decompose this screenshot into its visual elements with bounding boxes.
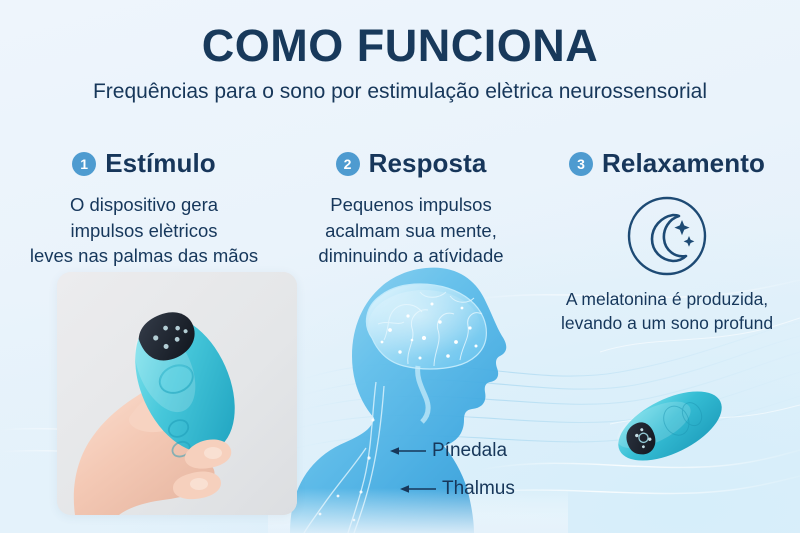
annotation-pineal-label: Pínedala [432, 440, 507, 462]
step-column-1: 1 Estímulo O dispositivo gera impulsos e… [0, 148, 288, 269]
step-number-badge-2: 2 [336, 152, 360, 176]
leader-arrow-left-icon [390, 445, 426, 457]
step-2-title: Resposta [369, 148, 487, 179]
annotation-pineal: Pínedala [390, 440, 507, 462]
step-1-title: Estímulo [105, 148, 216, 179]
step-2-body: Pequenos impulsos acalmam sua mente, dim… [292, 192, 530, 269]
hand-device-photo [57, 272, 297, 515]
leader-arrow-left-icon [400, 483, 436, 495]
page-subtitle: Frequências para o sono por estimulação … [0, 79, 800, 106]
step-3-heading: 3 Relaxamento [538, 148, 796, 179]
infographic-poster: COMO FUNCIONA Frequências para o sono po… [0, 0, 800, 533]
annotation-thalamus-label: Thalmus [442, 478, 515, 500]
step-1-heading: 1 Estímulo [8, 148, 280, 179]
step-3-title: Relaxamento [602, 148, 765, 179]
step-column-2: 2 Resposta Pequenos impulsos acalmam sua… [288, 148, 534, 269]
step-column-3: 3 Relaxamento A melatonina é produzida, … [534, 148, 800, 335]
page-title: COMO FUNCIONA [0, 22, 800, 71]
step-1-body: O dispositivo gera impulsos elètricos le… [8, 192, 280, 269]
step-3-body: A melatonina é produzida, levando a um s… [538, 287, 796, 335]
step-number-badge-3: 3 [569, 152, 593, 176]
annotation-thalamus: Thalmus [400, 478, 515, 500]
teal-device-illustration [600, 378, 740, 474]
step-number-badge-1: 1 [72, 152, 96, 176]
moon-icon-wrapper [538, 195, 796, 277]
poster-header: COMO FUNCIONA Frequências para o sono po… [0, 0, 800, 105]
step-2-heading: 2 Resposta [292, 148, 530, 179]
moon-stars-icon [626, 195, 708, 277]
